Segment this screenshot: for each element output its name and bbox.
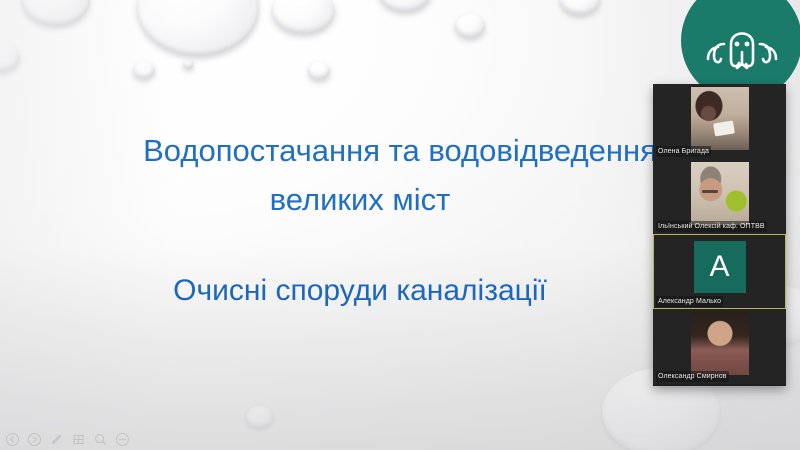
participant-video: [691, 312, 749, 375]
webcam-feed-icon: [691, 312, 749, 375]
screen: Водопостачання та водовідведення великих…: [0, 0, 800, 450]
participant-tile[interactable]: Олена Бригада: [653, 84, 786, 159]
slide-title-line1: Водопостачання та водовідведення: [40, 128, 760, 174]
pen-tool-icon[interactable]: [48, 431, 65, 447]
video-participants-panel[interactable]: Олена Бригада Ільїнський Олексій каф. ОП…: [653, 84, 786, 386]
participant-name: Олександр Смирнов: [656, 371, 729, 382]
next-slide-icon[interactable]: [26, 431, 43, 447]
octopus-glyph: [700, 14, 784, 76]
participant-tile[interactable]: Ільїнський Олексій каф. ОПТВВ: [653, 159, 786, 234]
more-options-icon[interactable]: [114, 431, 131, 447]
zoom-in-icon[interactable]: [92, 431, 109, 447]
slide-title-line2: великих міст: [40, 177, 680, 223]
participant-name: Ільїнський Олексій каф. ОПТВВ: [656, 221, 767, 232]
webcam-feed-icon: [691, 162, 749, 225]
all-slides-icon[interactable]: [70, 431, 87, 447]
webcam-feed-icon: [691, 87, 749, 150]
avatar: A: [694, 241, 746, 293]
participant-video: [691, 162, 749, 225]
slide-subtitle: Очисні споруди каналізації: [40, 270, 680, 312]
slideshow-controls: [4, 431, 131, 447]
participant-name: Олена Бригада: [656, 146, 711, 157]
participant-tile-active-speaker[interactable]: A Александр Малько: [653, 234, 786, 309]
participant-video: [691, 87, 749, 150]
previous-slide-icon[interactable]: [4, 431, 21, 447]
participant-name: Александр Малько: [656, 296, 723, 307]
participant-tile[interactable]: Олександр Смирнов: [653, 309, 786, 384]
